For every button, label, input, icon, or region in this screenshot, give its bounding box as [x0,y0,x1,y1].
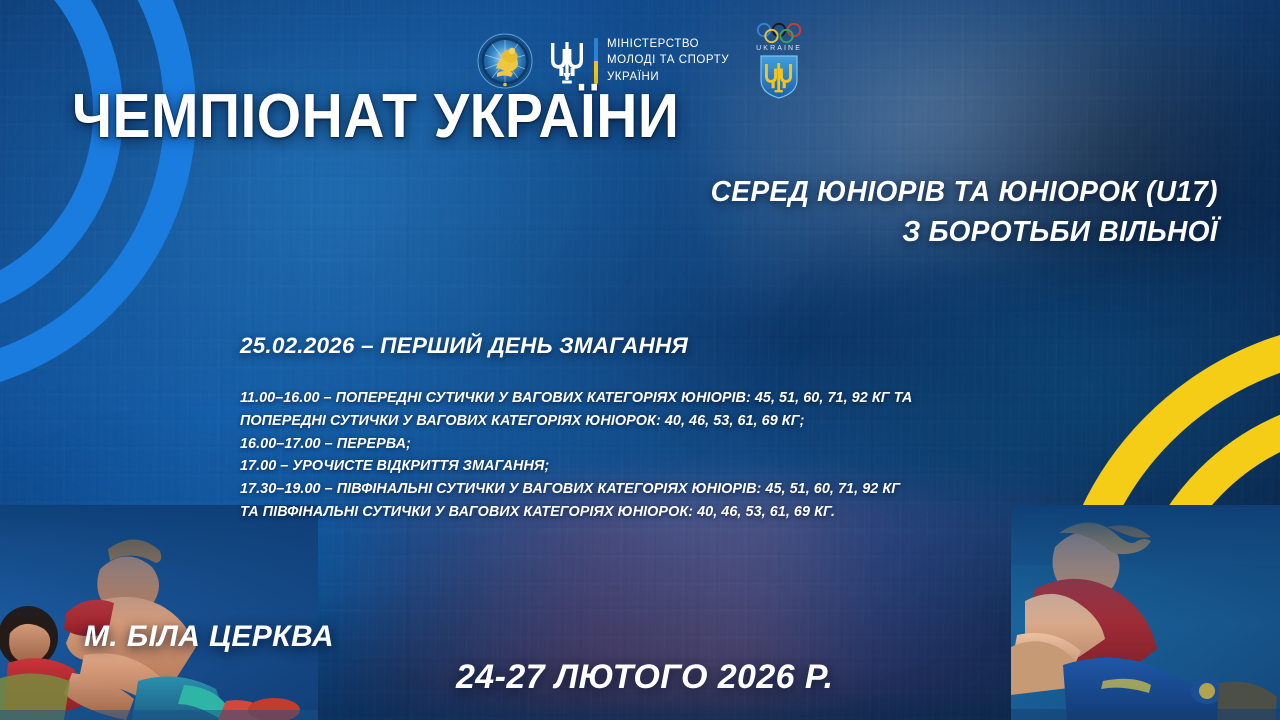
male-wrestlers-photo [0,505,318,720]
schedule-block: 25.02.2026 – ПЕРШИЙ ДЕНЬ ЗМАГАННЯ 11.00–… [240,333,1010,524]
schedule-list: 11.00–16.00 – ПОПЕРЕДНІ СУТИЧКИ У ВАГОВИ… [240,387,1010,524]
flag-divider [594,38,598,84]
poster-canvas: МІНІСТЕРСТВО МОЛОДІ ТА СПОРТУ УКРАЇНИ UK… [0,0,1280,720]
wrestling-federation-emblem-icon [477,33,533,89]
olympic-rings-icon [755,22,803,44]
subtitle-line-1: СЕРЕД ЮНІОРІВ ТА ЮНІОРОК (U17) [711,172,1218,212]
event-dates: 24-27 ЛЮТОГО 2026 Р. [456,658,834,697]
ukraine-trident-icon [549,37,585,85]
main-title: ЧЕМПІОНАТ УКРАЇНИ [72,86,679,148]
ministry-logo: МІНІСТЕРСТВО МОЛОДІ ТА СПОРТУ УКРАЇНИ [549,37,729,85]
schedule-item: 11.00–16.00 – ПОПЕРЕДНІ СУТИЧКИ У ВАГОВИ… [240,387,1010,410]
schedule-item: 17.00 – УРОЧИСТЕ ВІДКРИТТЯ ЗМАГАННЯ; [240,455,1010,478]
subtitle-line-2: З БОРОТЬБИ ВІЛЬНОЇ [711,212,1218,252]
ministry-line-2: МОЛОДІ ТА СПОРТУ [607,53,729,68]
olympic-country-label: UKRAINE [756,45,802,52]
ministry-text-block: МІНІСТЕРСТВО МОЛОДІ ТА СПОРТУ УКРАЇНИ [607,37,729,85]
schedule-item: 16.00–17.00 – ПЕРЕРВА; [240,433,1010,456]
schedule-item: ПОПЕРЕДНІ СУТИЧКИ У ВАГОВИХ КАТЕГОРІЯХ Ю… [240,410,1010,433]
subtitle-block: СЕРЕД ЮНІОРІВ ТА ЮНІОРОК (U17) З БОРОТЬБ… [695,172,1218,252]
schedule-day-heading: 25.02.2026 – ПЕРШИЙ ДЕНЬ ЗМАГАННЯ [240,333,1010,359]
female-wrestlers-photo [1011,505,1280,720]
olympic-committee-logo: UKRAINE [755,22,803,100]
schedule-item: 17.30–19.00 – ПІВФІНАЛЬНІ СУТИЧКИ У ВАГО… [240,478,1010,501]
schedule-item: ТА ПІВФІНАЛЬНІ СУТИЧКИ У ВАГОВИХ КАТЕГОР… [240,501,1010,524]
ukraine-shield-trident-icon [758,54,800,100]
city-label: М. БІЛА ЦЕРКВА [84,620,334,654]
ministry-line-1: МІНІСТЕРСТВО [607,37,729,52]
